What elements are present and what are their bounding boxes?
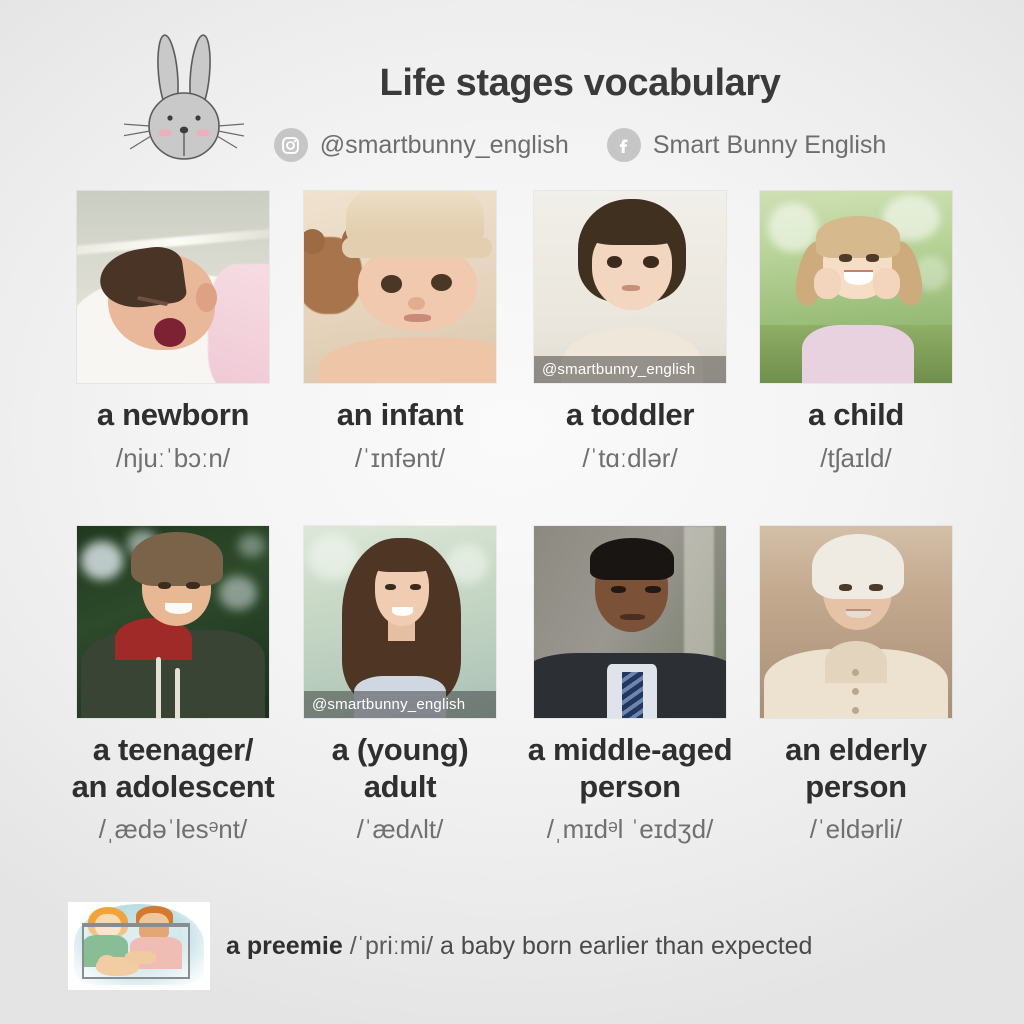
infographic-page: Life stages vocabulary @smartbunny_engli… xyxy=(0,0,1024,1024)
word-label: an infant xyxy=(280,397,520,434)
photo-young-adult: @smartbunny_english xyxy=(304,526,496,718)
ipa-label: /ˈeldərli/ xyxy=(736,814,976,845)
card-middle-aged: a middle-agedperson /ˌmɪdᵊl ˈeɪdʒd/ xyxy=(510,526,750,845)
card-toddler: @smartbunny_english a toddler /ˈtɑːdlər/ xyxy=(510,191,750,474)
facebook-icon[interactable] xyxy=(607,128,641,162)
word-label: a newborn xyxy=(53,397,293,434)
facebook-name[interactable]: Smart Bunny English xyxy=(653,131,886,160)
social-handles: @smartbunny_english Smart Bunny English xyxy=(220,128,940,162)
card-newborn: a newborn /njuːˈbɔːn/ xyxy=(53,191,293,474)
ipa-label: /ˈædʌlt/ xyxy=(280,814,520,845)
preemie-word: a preemie xyxy=(226,932,343,960)
header: Life stages vocabulary @smartbunny_engli… xyxy=(0,24,1024,164)
photo-watermark: @smartbunny_english xyxy=(304,691,496,718)
page-title: Life stages vocabulary xyxy=(220,62,940,105)
photo-middle-aged xyxy=(534,526,726,718)
photo-teenager xyxy=(77,526,269,718)
ipa-label: /ˌædəˈlesᵊnt/ xyxy=(53,814,293,845)
ipa-label: /tʃaɪld/ xyxy=(736,443,976,474)
preemie-illustration xyxy=(68,902,210,990)
preemie-meaning: a baby born earlier than expected xyxy=(440,932,812,960)
word-label: an elderlyperson xyxy=(736,732,976,805)
photo-newborn xyxy=(77,191,269,383)
photo-toddler: @smartbunny_english xyxy=(534,191,726,383)
ipa-label: /ˈtɑːdlər/ xyxy=(510,443,750,474)
instagram-icon[interactable] xyxy=(274,128,308,162)
word-label: a (young)adult xyxy=(280,732,520,805)
preemie-row: a preemie /ˈpriːmi/ a baby born earlier … xyxy=(0,898,1024,994)
photo-watermark: @smartbunny_english xyxy=(534,356,726,383)
word-label: a toddler xyxy=(510,397,750,434)
card-infant: an infant /ˈɪnfənt/ xyxy=(280,191,520,474)
preemie-ipa: /ˈpriːmi/ xyxy=(350,932,433,960)
photo-elderly xyxy=(760,526,952,718)
word-label: a teenager/an adolescent xyxy=(53,732,293,805)
word-label: a middle-agedperson xyxy=(510,732,750,805)
word-label: a child xyxy=(736,397,976,434)
preemie-definition: a preemie /ˈpriːmi/ a baby born earlier … xyxy=(226,932,812,961)
ipa-label: /ˈɪnfənt/ xyxy=(280,443,520,474)
photo-child xyxy=(760,191,952,383)
ipa-label: /njuːˈbɔːn/ xyxy=(53,443,293,474)
card-teenager: a teenager/an adolescent /ˌædəˈlesᵊnt/ xyxy=(53,526,293,845)
card-young-adult: @smartbunny_english a (young)adult /ˈædʌ… xyxy=(280,526,520,845)
card-elderly: an elderlyperson /ˈeldərli/ xyxy=(736,526,976,845)
ipa-label: /ˌmɪdᵊl ˈeɪdʒd/ xyxy=(510,814,750,845)
instagram-handle[interactable]: @smartbunny_english xyxy=(320,131,569,160)
card-child: a child /tʃaɪld/ xyxy=(736,191,976,474)
photo-infant xyxy=(304,191,496,383)
